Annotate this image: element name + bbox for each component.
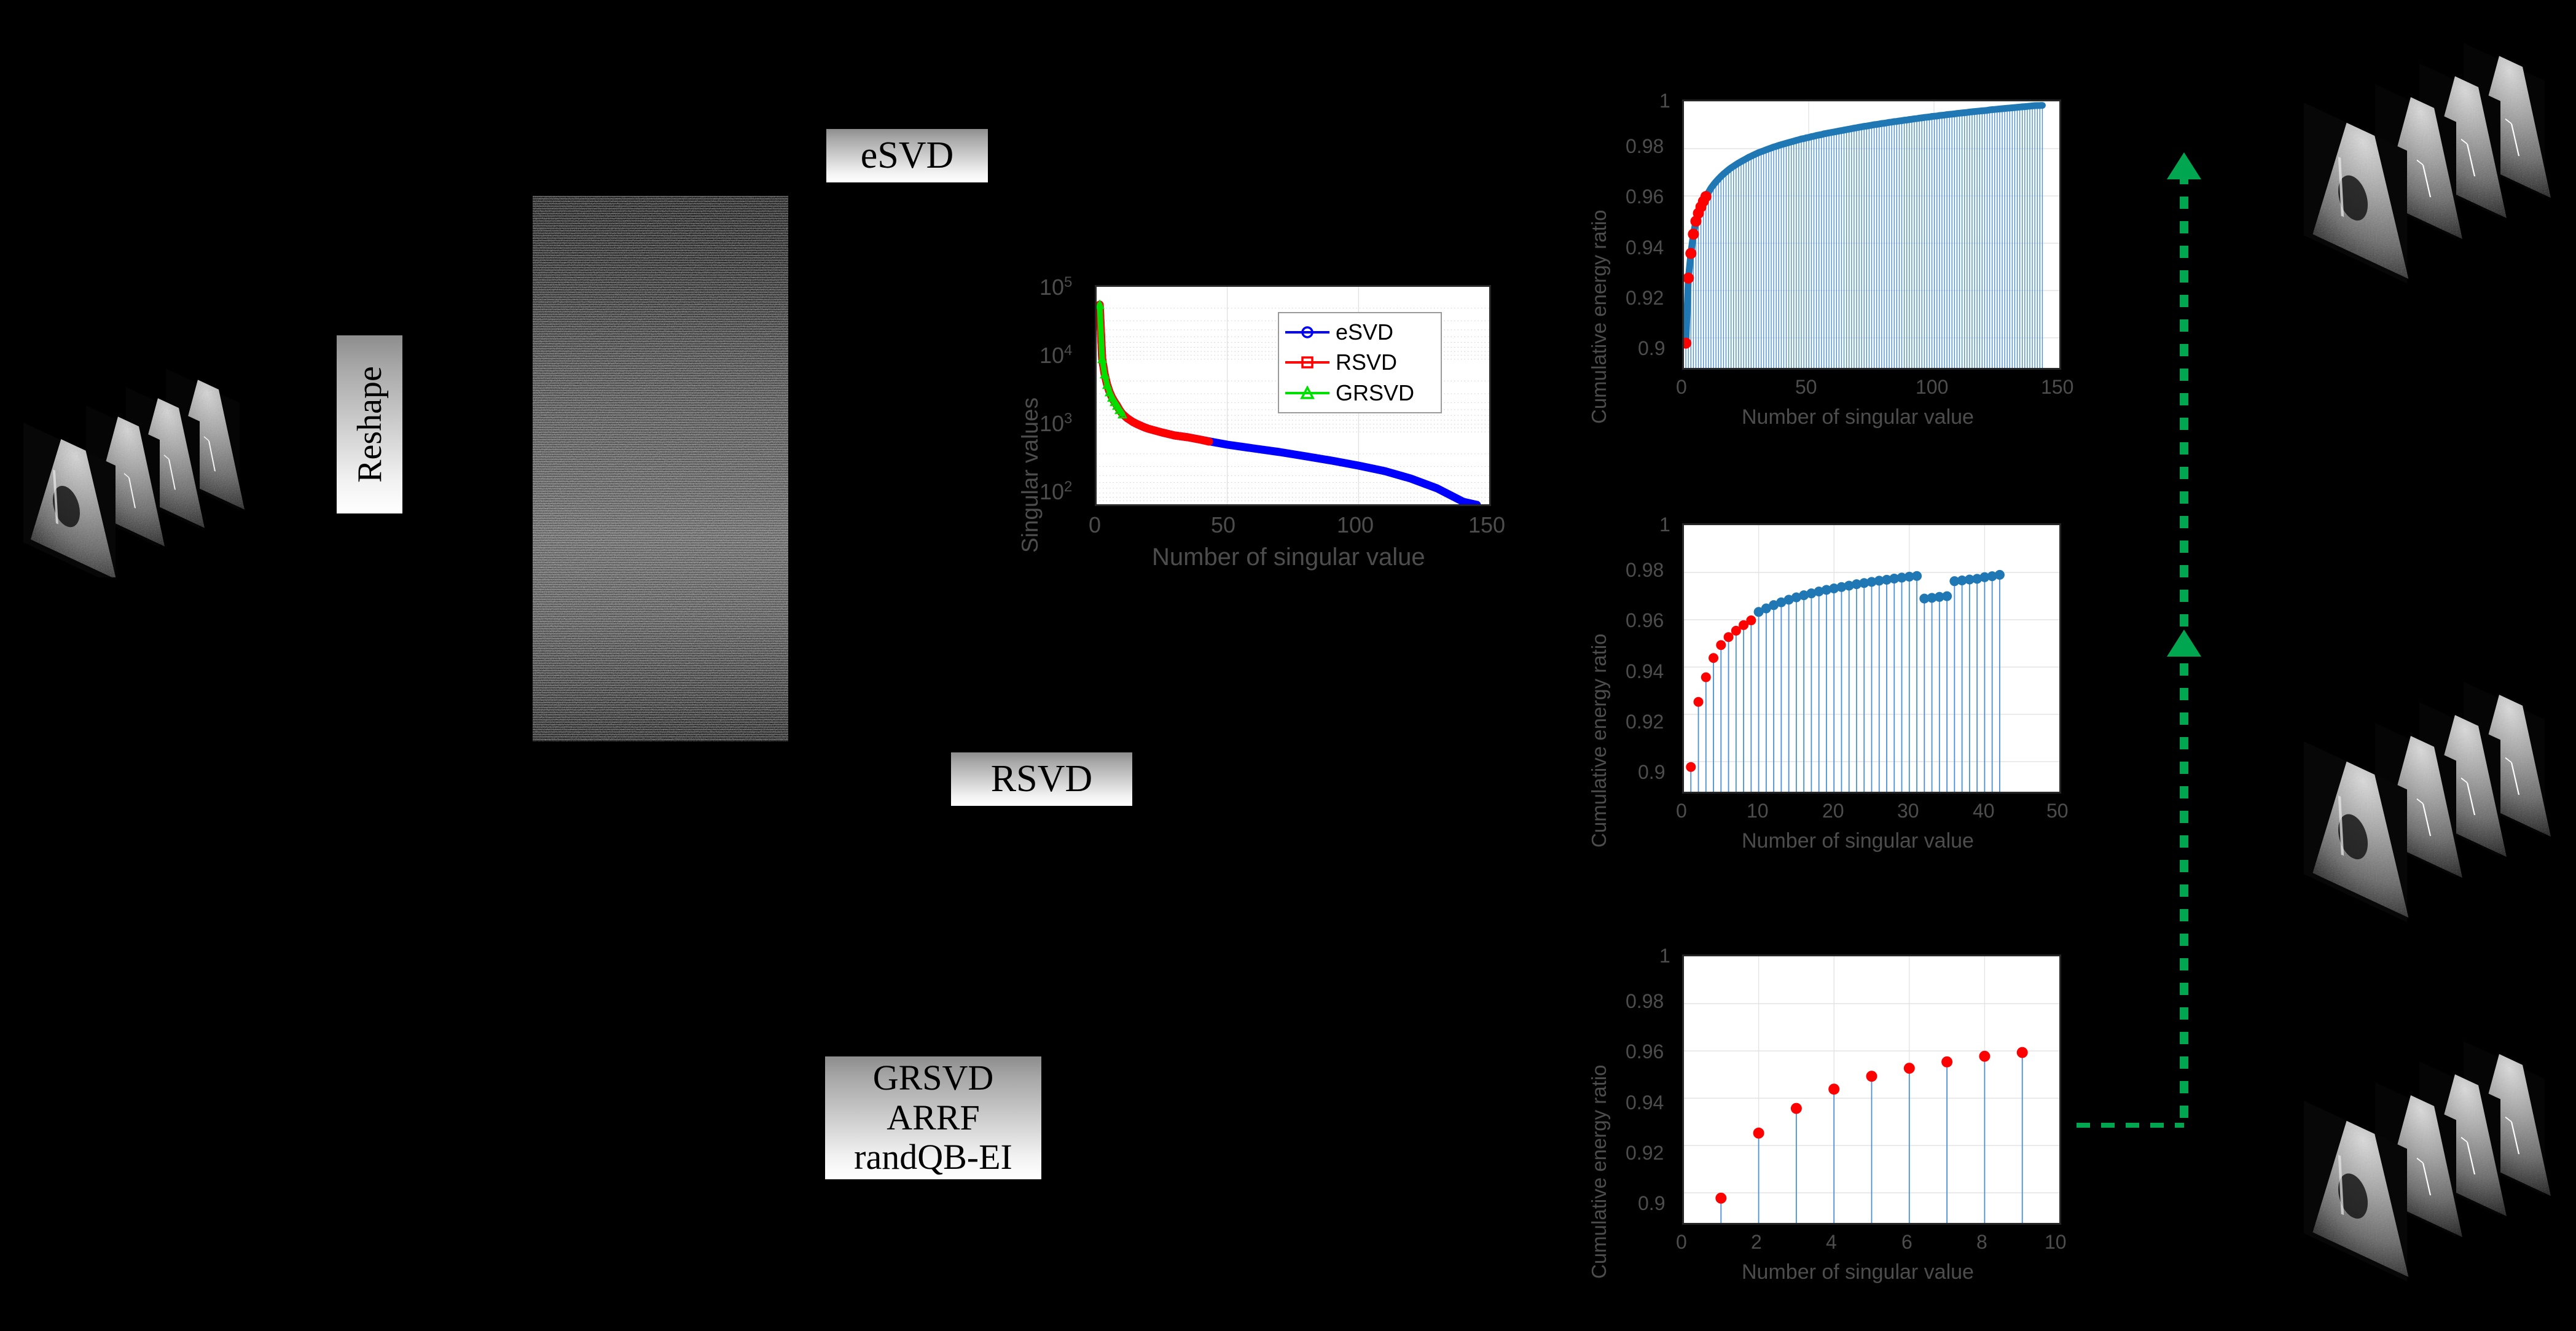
cum3-x-tick-0: 0 [1676,1231,1687,1254]
cum2-y-tick-094: 0.94 [1626,660,1664,683]
cumulative-energy-grsvd-chart: Cumulative energy ratio 1 0.98 0.96 0.94… [1573,935,2089,1328]
y-tick-1e5: 105 [1039,274,1072,300]
reshape-label-box: Reshape [337,335,402,513]
sv-x-tick-50: 50 [1211,512,1235,538]
legend-label-esvd: eSVD [1336,319,1393,345]
cum2-stems [1691,575,2000,792]
output-stack-esvd [2273,34,2576,304]
output-stack-esvd-svg [2273,34,2576,304]
singular-values-legend: eSVD RSVD GRSVD [1278,312,1442,413]
esvd-label: eSVD [861,135,954,177]
cum1-y-tick-1: 1 [1659,90,1670,112]
output-stack-grsvd-svg [2273,1032,2576,1302]
output-stack-rsvd-svg [2273,673,2576,943]
cum1-x-tick-100: 100 [1916,376,1948,399]
esvd-label-box: eSVD [826,129,988,182]
cum1-y-tick-098: 0.98 [1626,135,1664,158]
cum2-y-tick-096: 0.96 [1626,609,1664,632]
legend-label-rsvd: RSVD [1336,349,1397,375]
cum3-x-tick-4: 4 [1826,1231,1837,1254]
sv-x-tick-150: 150 [1468,512,1505,538]
cum2-y-tick-092: 0.92 [1626,711,1664,733]
sv-x-tick-0: 0 [1089,512,1101,538]
grsvd-label-line3: randQB-EI [854,1138,1012,1177]
cum3-y-tick-094: 0.94 [1626,1091,1664,1114]
reshape-label: Reshape [350,366,390,483]
cum2-x-tick-0: 0 [1676,800,1687,822]
cum1-y-tick-092: 0.92 [1626,287,1664,310]
cum1-ylabel: Cumulative energy ratio [1587,210,1611,424]
cum3-x-tick-2: 2 [1751,1231,1762,1254]
cum3-axes [1682,954,2061,1225]
grsvd-label-box: GRSVD ARRF randQB-EI [825,1056,1041,1179]
legend-marker-esvd-icon [1285,325,1329,340]
cum3-ylabel: Cumulative energy ratio [1587,1065,1611,1279]
legend-marker-grsvd-icon [1285,386,1329,400]
grsvd-label-line2: ARRF [887,1098,980,1138]
arrowhead-top [2167,152,2201,179]
rsvd-label: RSVD [991,758,1092,800]
cum2-x-tick-40: 40 [1973,800,1995,822]
green-dashed-arrow [2046,147,2206,1149]
cum2-xlabel: Number of singular value [1742,829,1974,853]
cum1-y-tick-096: 0.96 [1626,185,1664,208]
sv-x-tick-100: 100 [1337,512,1374,538]
cum3-xlabel: Number of singular value [1742,1260,1974,1284]
cumulative-energy-rsvd-chart: Cumulative energy ratio 1 0.98 0.96 0.94… [1573,504,2089,897]
cumulative-energy-esvd-chart: Cumulative energy ratio 1 0.98 0.96 0.94… [1573,80,2089,473]
cum3-y-tick-096: 0.96 [1626,1040,1664,1063]
cum3-x-tick-8: 8 [1976,1231,1987,1254]
input-stack-svg [12,362,283,577]
legend-label-grsvd: GRSVD [1336,380,1414,406]
cum2-x-tick-30: 30 [1897,800,1919,822]
legend-marker-rsvd-icon [1285,355,1329,370]
singular-values-chart: Singular values 105 104 103 102 [1001,264,1505,676]
grsvd-label-line1: GRSVD [873,1058,994,1098]
series-rsvd-curve [1100,305,1209,442]
cum1-xlabel: Number of singular value [1742,405,1974,429]
y-tick-1e2: 102 [1039,478,1072,505]
y-tick-1e4: 104 [1039,342,1072,369]
cum2-axes [1682,523,2061,794]
arrowhead-middle [2167,630,2201,657]
cum2-ylabel: Cumulative energy ratio [1587,634,1611,848]
legend-row-esvd: eSVD [1285,317,1435,347]
cum3-x-tick-6: 6 [1901,1231,1912,1254]
cum1-plot-svg [1683,101,2060,369]
cum3-y-tick-09: 0.9 [1638,1192,1665,1215]
input-ultrasound-stack [12,362,283,577]
cum3-plot-svg [1683,956,2060,1224]
cum3-y-tick-092: 0.92 [1626,1142,1664,1165]
cum2-markers [1686,570,2005,772]
output-stack-rsvd [2273,673,2576,943]
cum2-x-tick-20: 20 [1822,800,1844,822]
cum1-y-tick-094: 0.94 [1626,236,1664,259]
reshaped-matrix-svg [532,195,789,742]
cum2-x-tick-10: 10 [1747,800,1769,822]
singular-values-xlabel: Number of singular value [1152,544,1425,571]
legend-row-grsvd: GRSVD [1285,378,1435,408]
cum1-stems [1686,106,2042,369]
legend-row-rsvd: RSVD [1285,348,1435,378]
cum3-y-tick-1: 1 [1659,945,1670,967]
cum1-y-tick-09: 0.9 [1638,337,1665,360]
y-tick-1e3: 103 [1039,410,1072,437]
cum3-y-tick-098: 0.98 [1626,990,1664,1013]
cum2-y-tick-098: 0.98 [1626,559,1664,582]
series-grsvd-curve [1100,305,1122,414]
cum2-y-tick-09: 0.9 [1638,761,1665,784]
cum1-x-tick-50: 50 [1795,376,1817,399]
cum1-axes [1682,100,2061,370]
cum2-plot-svg [1683,525,2060,792]
cum2-y-tick-1: 1 [1659,513,1670,536]
reshaped-matrix-image [532,195,789,742]
rsvd-label-box: RSVD [951,752,1132,806]
cum3-x-tick-10: 10 [2045,1231,2067,1254]
cum1-x-tick-0: 0 [1676,376,1687,399]
output-stack-grsvd [2273,1032,2576,1302]
green-arrow-svg [2046,147,2206,1149]
